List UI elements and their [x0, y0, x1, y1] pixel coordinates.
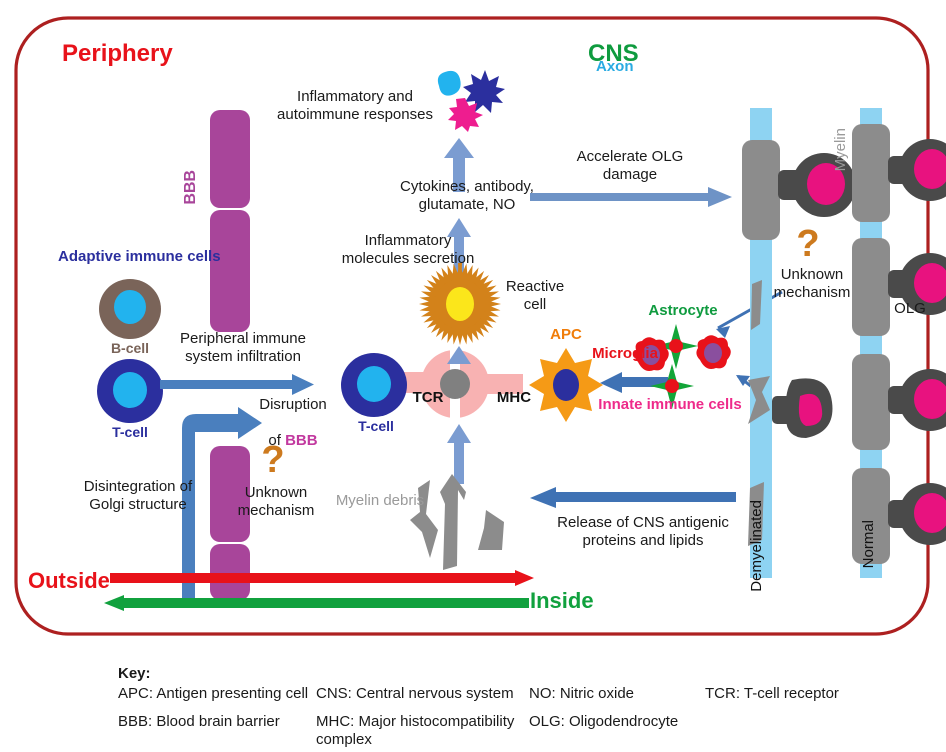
inflammatory-autoimmune-label: Inflammatory and autoimmune responses	[275, 88, 435, 123]
cytokine-molecules-group	[425, 66, 505, 132]
normal-label: Normal	[860, 520, 878, 568]
b-cell-icon	[98, 278, 162, 340]
olg-label: OLG	[886, 300, 934, 318]
accelerate-olg-arrow	[530, 186, 734, 210]
demyelinated-label: Demyelinated	[748, 500, 766, 592]
t-cell-left-label: T-cell	[92, 424, 168, 441]
question-mark-icon-left: ?	[246, 438, 300, 483]
damaged-oligodendrocyte-icon	[772, 378, 832, 438]
oligodendrocyte-icon-2	[852, 238, 946, 336]
key-item-apc: APC: Antigen presenting cell	[118, 685, 318, 703]
apc-label: APC	[534, 326, 598, 344]
tcr-label: TCR	[405, 389, 451, 407]
disruption-label-line1: Disruption	[238, 396, 348, 414]
outside-label: Outside	[28, 568, 110, 594]
inside-label: Inside	[530, 588, 594, 614]
microglia-label: Microglia	[588, 345, 662, 363]
normal-axon-group	[850, 108, 946, 578]
key-item-tcr: TCR: T-cell receptor	[705, 685, 905, 703]
diagram-canvas: Periphery CNS BBB Adaptive immune cells …	[0, 0, 946, 752]
t-cell-center-icon	[340, 352, 408, 418]
peripheral-infiltration-label: Peripheral immune system infiltration	[168, 330, 318, 365]
t-cell-icon	[96, 358, 164, 424]
axon-label: Axon	[596, 58, 634, 76]
accelerate-olg-label: Accelerate OLG damage	[550, 148, 710, 183]
key-heading: Key:	[118, 665, 151, 683]
cytokines-label: Cytokines, antibody, glutamate, NO	[382, 178, 552, 213]
bbb-vertical-label: BBB	[182, 170, 201, 205]
peripheral-infiltration-arrow	[160, 372, 316, 398]
oligodendrocyte-icon-1	[852, 124, 946, 222]
b-cell-label: B-cell	[92, 340, 168, 357]
key-item-cns: CNS: Central nervous system	[316, 685, 531, 703]
oligodendrocyte-icon-3	[852, 354, 946, 450]
adaptive-immune-cells-label: Adaptive immune cells	[58, 248, 221, 266]
myelin-label: Myelin	[832, 128, 850, 171]
mhc-up-arrow	[446, 346, 472, 368]
question-mark-icon-right: ?	[786, 222, 830, 267]
unknown-mechanism-right-label: Unknown mechanism	[762, 266, 862, 301]
key-item-no: NO: Nitric oxide	[529, 685, 699, 703]
outside-arrow	[110, 570, 535, 586]
cytokine-blob-icon	[438, 71, 461, 96]
periphery-title: Periphery	[62, 40, 173, 68]
key-item-olg: OLG: Oligodendrocyte	[529, 713, 719, 731]
myelin-debris-icon	[400, 470, 530, 580]
key-item-bbb: BBB: Blood brain barrier	[118, 713, 318, 731]
reactive-cell-label: Reactive cell	[500, 278, 570, 313]
unknown-mechanism-left-label: Unknown mechanism	[230, 484, 322, 519]
reactive-cell-icon	[418, 262, 502, 346]
myelin-debris-label: Myelin debris	[332, 492, 428, 510]
inside-arrow	[104, 595, 529, 611]
t-cell-center-label: T-cell	[338, 418, 414, 435]
disintegration-golgi-label: Disintegration of Golgi structure	[58, 478, 218, 513]
release-cns-arrow	[530, 487, 736, 509]
key-item-mhc: MHC: Major histocompatibility complex	[316, 713, 531, 748]
release-cns-label: Release of CNS antigenic proteins and li…	[548, 514, 738, 549]
